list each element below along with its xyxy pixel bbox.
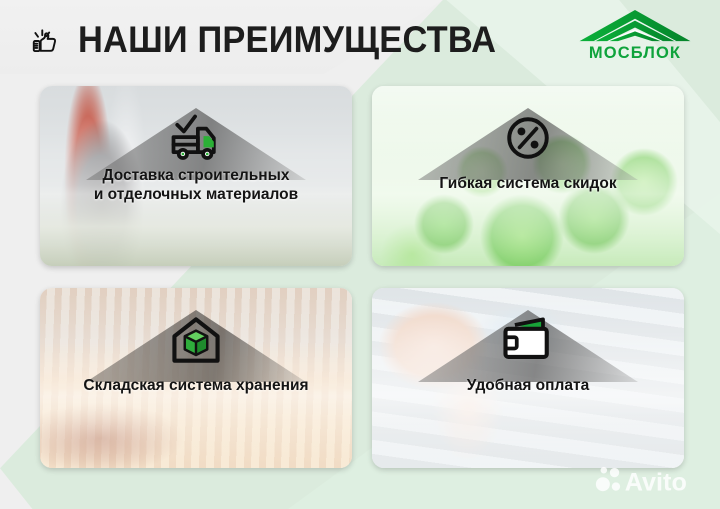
advertisement-banner: НАШИ ПРЕИМУЩЕСТВА МОСБЛОК xyxy=(0,0,720,509)
wallet-icon xyxy=(498,310,558,370)
card-label-line2: и отделочных материалов xyxy=(94,186,298,203)
thumbs-up-icon xyxy=(29,24,63,58)
advantage-card-storage[interactable]: Складская система хранения xyxy=(40,288,352,468)
advantage-card-delivery[interactable]: Доставка строительных и отделочных матер… xyxy=(40,86,352,266)
card-label-delivery: Доставка строительных и отделочных матер… xyxy=(50,166,342,204)
banner-header: НАШИ ПРЕИМУЩЕСТВА МОСБЛОК xyxy=(0,0,720,74)
delivery-truck-check-icon xyxy=(166,108,226,168)
avito-watermark: Avito xyxy=(594,463,706,497)
avito-dots-icon xyxy=(596,467,620,491)
advantage-card-discounts[interactable]: Гибкая система скидок xyxy=(372,86,684,266)
warehouse-box-icon xyxy=(166,310,226,370)
mosblok-mountain-logo-icon xyxy=(579,9,691,45)
card-label-payment: Удобная оплата xyxy=(382,376,674,395)
brand-logo: МОСБЛОК xyxy=(576,9,694,67)
advantages-grid: Доставка строительных и отделочных матер… xyxy=(40,86,684,478)
avito-wordmark: Avito xyxy=(625,468,687,496)
card-label-line1: Доставка строительных xyxy=(102,167,289,184)
brand-name: МОСБЛОК xyxy=(576,44,694,63)
card-label-discounts: Гибкая система скидок xyxy=(382,174,674,193)
advantage-card-payment[interactable]: Удобная оплата xyxy=(372,288,684,468)
card-label-storage: Складская система хранения xyxy=(50,376,342,395)
percent-circle-icon xyxy=(498,108,558,168)
page-title: НАШИ ПРЕИМУЩЕСТВА xyxy=(78,19,496,61)
